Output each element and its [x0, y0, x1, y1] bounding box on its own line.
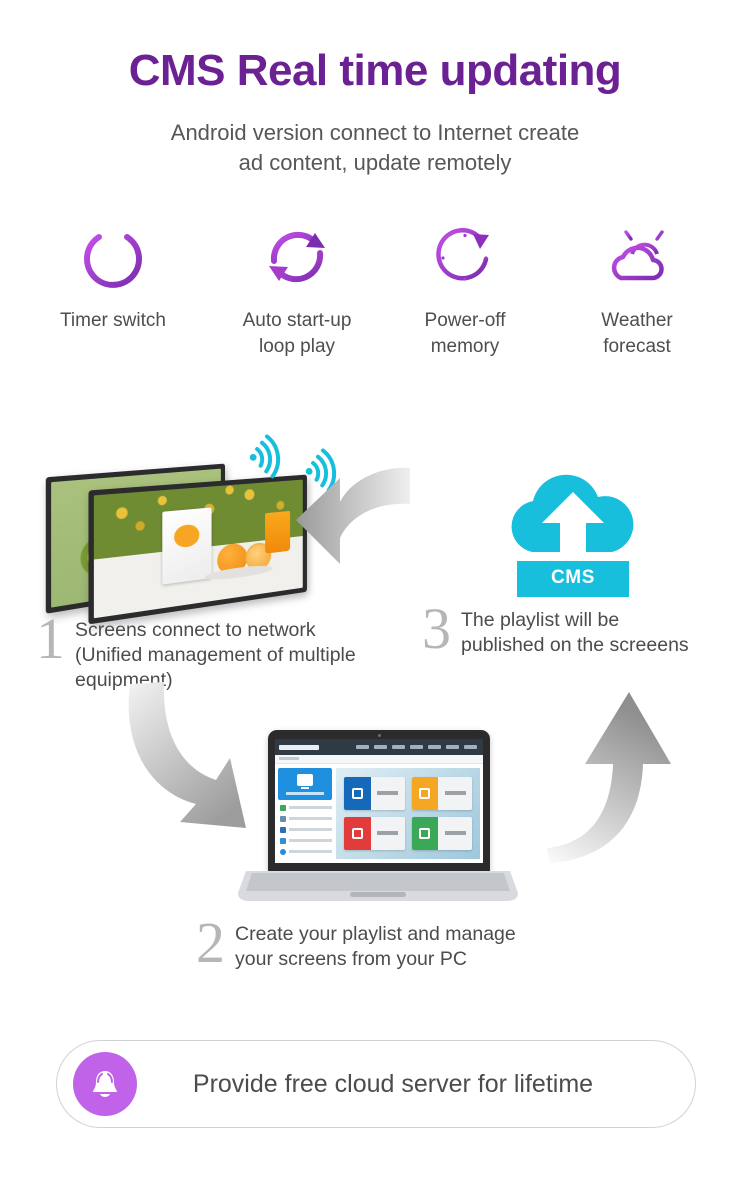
laptop-base	[238, 871, 518, 905]
subtitle-line-2: ad content, update remotely	[0, 148, 750, 178]
sidebar-item[interactable]	[278, 827, 332, 833]
poster-page: CMS Real time updating Android version c…	[0, 0, 750, 1187]
dashboard-sidebar	[275, 764, 335, 863]
step-number: 3	[422, 604, 451, 654]
cloud-server-banner: Provide free cloud server for lifetime	[56, 1040, 696, 1128]
step-text: Create your playlist and manage your scr…	[235, 918, 516, 972]
feature-label: Weather forecast	[552, 308, 722, 360]
nav-item[interactable]	[446, 745, 459, 749]
dashboard-logo	[279, 745, 319, 750]
feature-auto-startup: Auto start-up loop play	[212, 218, 382, 360]
laptop-lid	[268, 730, 490, 873]
bell-icon	[73, 1052, 137, 1116]
dashboard-header	[275, 739, 483, 755]
nav-item[interactable]	[428, 745, 441, 749]
arrow-cloud-to-screens-icon	[292, 458, 412, 578]
page-title: CMS Real time updating	[0, 46, 750, 96]
monitor-icon	[297, 774, 313, 786]
monitor-tile[interactable]	[412, 817, 472, 850]
page-subtitle: Android version connect to Internet crea…	[0, 118, 750, 178]
loop-icon	[212, 218, 382, 296]
cms-dashboard-screen	[275, 739, 483, 863]
clock-icon	[380, 218, 550, 296]
power-icon	[28, 218, 198, 296]
step-number: 1	[36, 614, 65, 664]
display-screen-front	[88, 475, 306, 625]
weather-icon	[552, 218, 722, 296]
sidebar-item[interactable]	[278, 816, 332, 822]
dashboard-tiles	[336, 768, 480, 859]
step-3: 3 The playlist will be published on the …	[422, 604, 750, 658]
sidebar-device-card[interactable]	[278, 768, 332, 800]
dashboard-breadcrumb	[275, 755, 483, 764]
cloud-upload-icon	[498, 468, 648, 558]
publish-program-tile[interactable]	[344, 817, 404, 850]
upload-material-tile[interactable]	[344, 777, 404, 810]
feature-label: Auto start-up loop play	[212, 308, 382, 360]
step-2: 2 Create your playlist and manage your s…	[196, 918, 576, 972]
feature-label: Power-off memory	[380, 308, 550, 360]
dashboard-nav	[319, 745, 479, 749]
cms-cloud-block: CMS	[498, 468, 648, 597]
feature-weather-forecast: Weather forecast	[552, 218, 722, 360]
nav-item[interactable]	[410, 745, 423, 749]
sidebar-item[interactable]	[278, 838, 332, 844]
feature-timer-switch: Timer switch	[28, 218, 198, 334]
step-text: The playlist will be published on the sc…	[461, 604, 689, 658]
cms-label: CMS	[517, 561, 629, 597]
sidebar-item[interactable]	[278, 849, 332, 855]
create-program-tile[interactable]	[412, 777, 472, 810]
nav-item[interactable]	[392, 745, 405, 749]
feature-power-off-memory: Power-off memory	[380, 218, 550, 360]
feature-label: Timer switch	[28, 308, 198, 334]
subtitle-line-1: Android version connect to Internet crea…	[0, 118, 750, 148]
nav-item[interactable]	[374, 745, 387, 749]
nav-item[interactable]	[464, 745, 477, 749]
feature-row: Timer switch Auto start-up loop play	[0, 218, 750, 368]
laptop-device	[238, 730, 518, 905]
sidebar-item[interactable]	[278, 805, 332, 811]
dashboard-body	[275, 764, 483, 863]
arrow-pc-to-cloud-icon	[545, 668, 695, 868]
step-number: 2	[196, 918, 225, 968]
workflow-diagram: CMS 3 The playlist will be published on …	[0, 400, 750, 1020]
nav-item[interactable]	[356, 745, 369, 749]
banner-text: Provide free cloud server for lifetime	[137, 1070, 695, 1099]
